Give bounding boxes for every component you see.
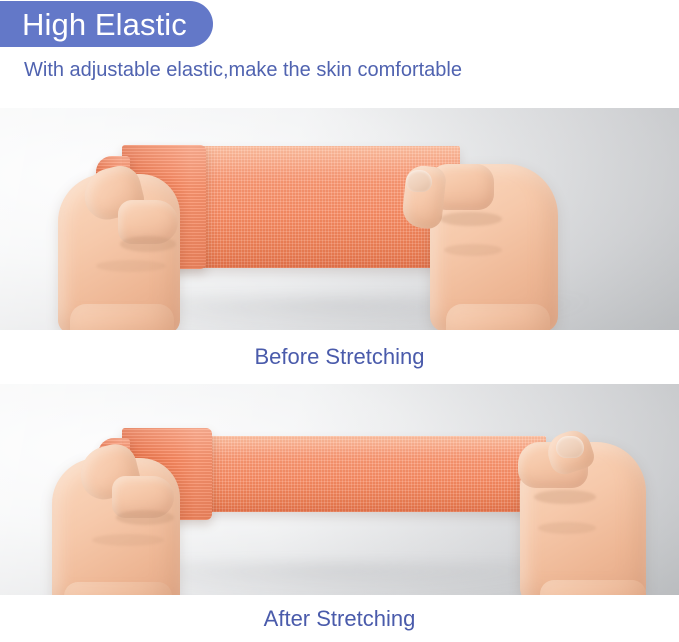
left-hand-wrist [64,582,172,595]
caption-band-before: Before Stretching [0,330,679,384]
right-hand-knuckle-crease-2 [538,522,596,534]
right-hand-thumbnail [406,170,432,192]
right-hand-thumbnail [556,436,584,458]
left-hand-palm-crease [92,534,164,546]
right-hand-knuckle-crease-1 [440,212,502,226]
page-title: High Elastic [22,9,187,40]
right-hand-knuckle-crease-2 [444,244,502,256]
subtitle-text: With adjustable elastic,make the skin co… [24,58,462,82]
caption-after-stretching: After Stretching [264,606,416,632]
title-badge: High Elastic [0,1,213,47]
product-photo-after [0,384,679,595]
product-photo-before [0,108,679,330]
caption-before-stretching: Before Stretching [255,344,425,370]
header: High Elastic With adjustable elastic,mak… [0,0,679,108]
caption-band-after: After Stretching [0,595,679,642]
left-hand-palm-crease [96,260,166,272]
right-hand-knuckle-crease-1 [534,490,596,504]
left-hand-knuckle-crease [116,510,174,525]
left-hand-wrist [70,304,174,330]
right-hand-wrist [446,304,550,330]
left-hand-knuckle-crease [120,236,176,252]
right-hand-wrist [540,580,646,595]
